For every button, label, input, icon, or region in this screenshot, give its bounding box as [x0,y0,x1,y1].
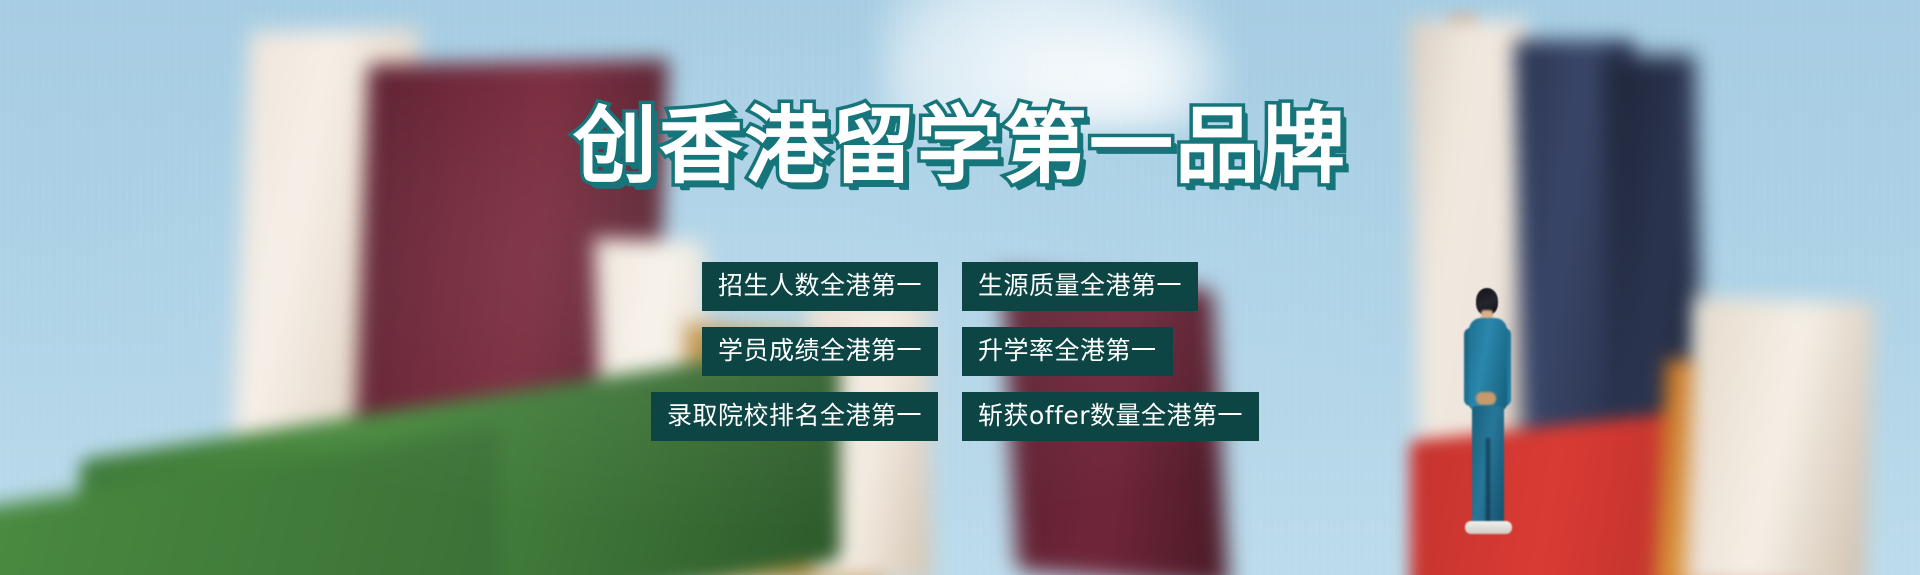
badge-student-quality[interactable]: 生源质量全港第一 [962,262,1198,311]
badge-row: 学员成绩全港第一 升学率全港第一 [0,327,1920,376]
badge-grid: 招生人数全港第一 生源质量全港第一 学员成绩全港第一 升学率全港第一 录取院校排 [0,262,1920,457]
promo-banner: 创香港留学第一品牌 招生人数全港第一 生源质量全港第一 学员成绩全港第一 升学率… [0,0,1920,575]
badge-offer-count[interactable]: 斩获offer数量全港第一 [962,392,1259,441]
badge-column-right: 生源质量全港第一 [962,262,1292,311]
badge-column-left: 录取院校排名全港第一 [628,392,938,441]
badge-student-scores[interactable]: 学员成绩全港第一 [702,327,938,376]
badge-column-left: 学员成绩全港第一 [628,327,938,376]
banner-headline: 创香港留学第一品牌 [0,104,1920,188]
banner-content: 创香港留学第一品牌 招生人数全港第一 生源质量全港第一 学员成绩全港第一 升学率… [0,0,1920,575]
badge-column-right: 斩获offer数量全港第一 [962,392,1292,441]
badge-row: 录取院校排名全港第一 斩获offer数量全港第一 [0,392,1920,441]
badge-university-ranking[interactable]: 录取院校排名全港第一 [651,392,938,441]
badge-row: 招生人数全港第一 生源质量全港第一 [0,262,1920,311]
badge-column-left: 招生人数全港第一 [628,262,938,311]
badge-enrollment-count[interactable]: 招生人数全港第一 [702,262,938,311]
badge-column-right: 升学率全港第一 [962,327,1292,376]
badge-progression-rate[interactable]: 升学率全港第一 [962,327,1173,376]
